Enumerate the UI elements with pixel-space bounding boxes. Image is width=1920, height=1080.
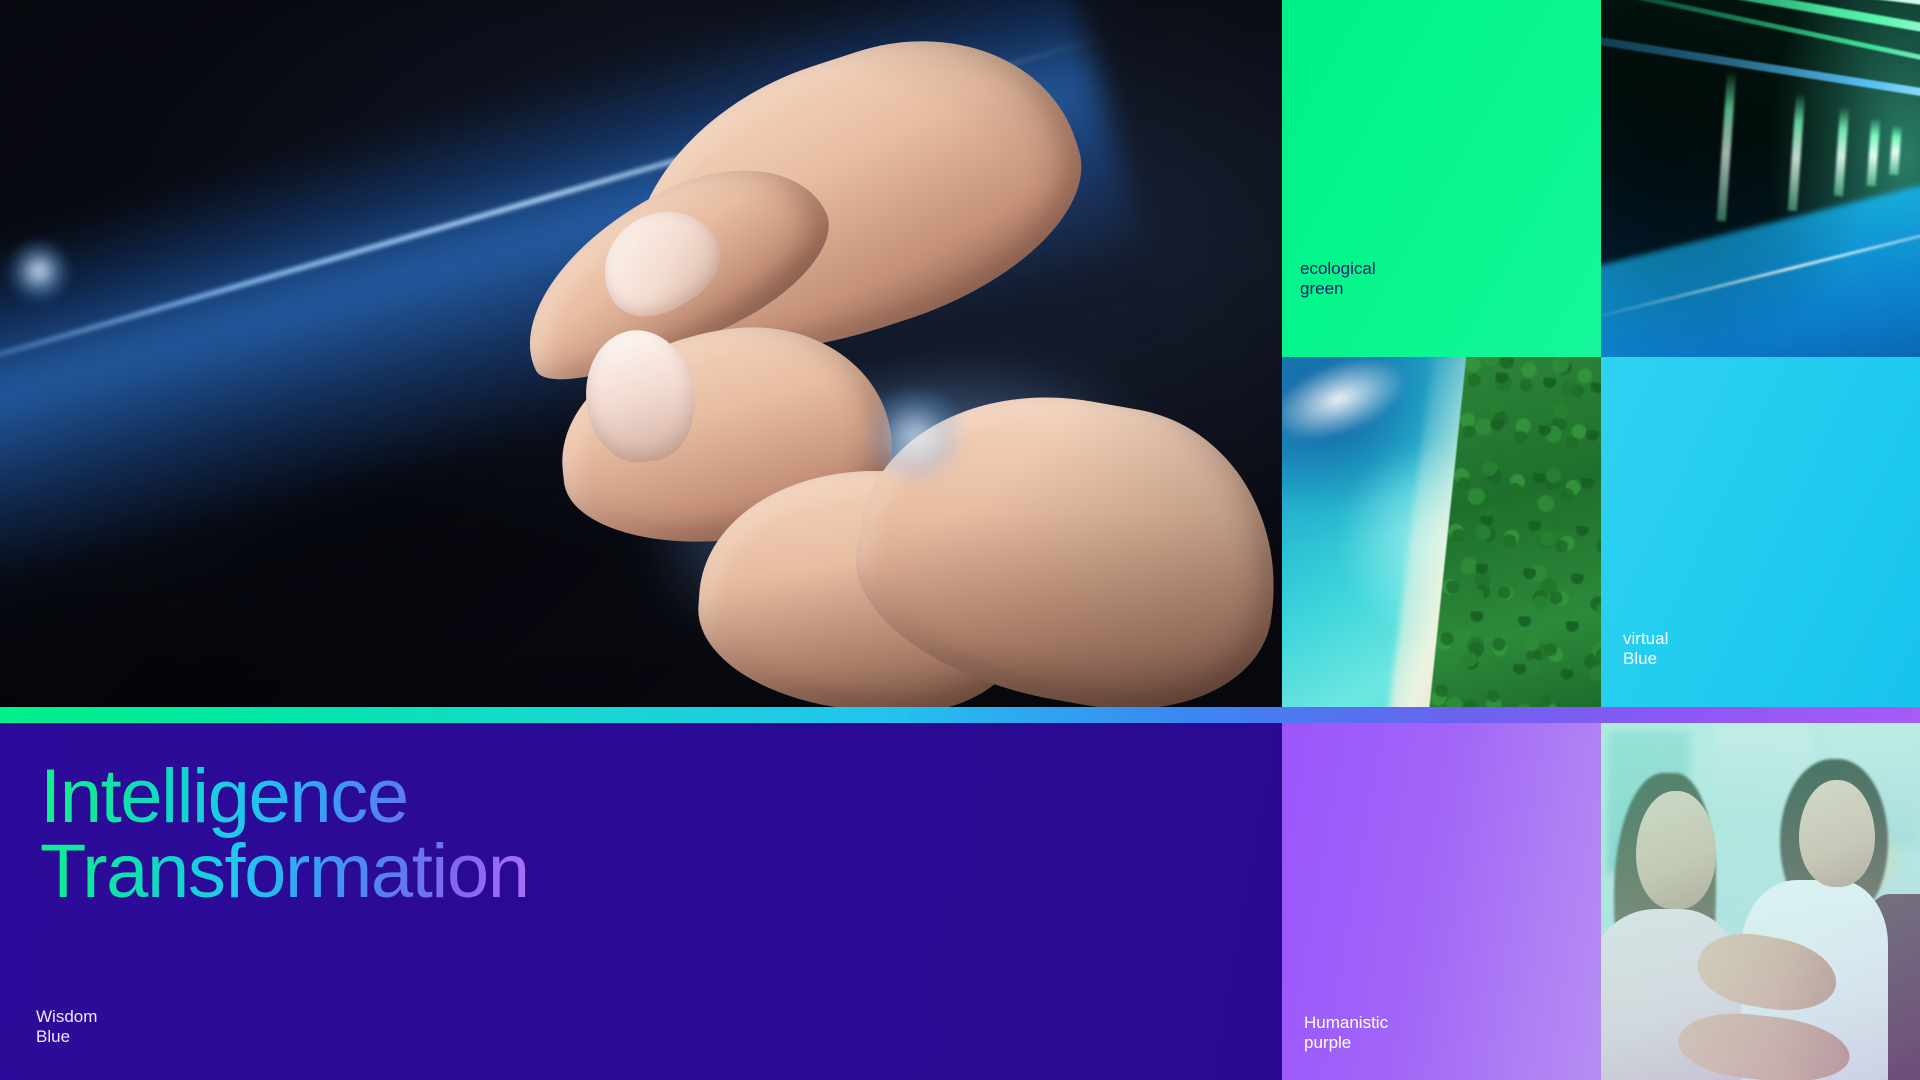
- page-title: Intelligence Transformation: [40, 759, 529, 909]
- brand-keyvisual-board: ecological green vir: [0, 0, 1920, 1080]
- swatch-label-virtual-blue: virtual Blue: [1623, 629, 1668, 669]
- swatch-virtual-blue: virtual Blue: [1601, 357, 1920, 707]
- aerial-coastline-photo: [1282, 357, 1601, 707]
- top-region: ecological green vir: [0, 0, 1920, 707]
- swatch-label-humanistic-purple: Humanistic purple: [1304, 1013, 1388, 1053]
- bottom-region: Intelligence Transformation Wisdom Blue …: [0, 723, 1920, 1080]
- swatch-label-ecological-green: ecological green: [1300, 259, 1376, 299]
- neon-tunnel-photo: [1601, 0, 1920, 357]
- swatch-humanistic-purple: Humanistic purple: [1282, 723, 1601, 1080]
- gradient-divider-bar: [0, 707, 1920, 723]
- swatch-ecological-green: ecological green: [1282, 0, 1601, 357]
- tunnel-vignette: [1601, 0, 1920, 357]
- swatch-label-wisdom-blue: Wisdom Blue: [36, 1007, 97, 1047]
- family-photo-color-grade-overlay: [1601, 723, 1920, 1080]
- finger-touching-tablet-photo: [0, 0, 1282, 707]
- hero-vignette: [0, 0, 1282, 707]
- swatch-wisdom-blue: Intelligence Transformation Wisdom Blue: [0, 723, 1282, 1080]
- mother-and-daughter-photo: [1601, 723, 1920, 1080]
